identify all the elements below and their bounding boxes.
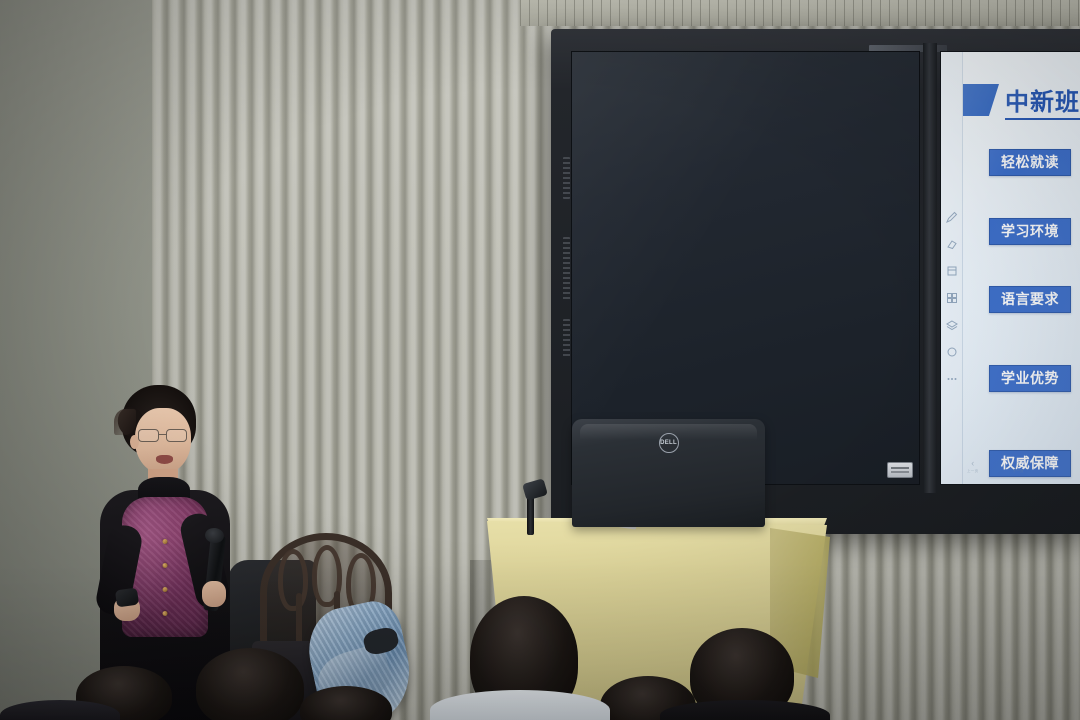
- presenter-right-hand: [202, 581, 226, 607]
- presenter-mouth: [156, 455, 173, 464]
- bezel-label-input-source: [563, 157, 570, 199]
- chair-scrollwork: [278, 549, 308, 611]
- slide-row[interactable]: 轻松就读 1、: [989, 148, 1080, 176]
- lens-right: [166, 429, 187, 442]
- bezel-label-menu-settings: [563, 237, 570, 301]
- next-page-button[interactable]: › 下一页: [1012, 459, 1023, 474]
- slide-title: 中新班优: [1005, 82, 1080, 120]
- slide-row[interactable]: 学业优势 4、: [989, 364, 1080, 392]
- prev-page-button[interactable]: ‹ 上一页: [967, 459, 978, 474]
- slide-chip-label: 学习环境: [989, 218, 1071, 245]
- more-icon[interactable]: [945, 372, 958, 385]
- vest-button: [163, 563, 168, 568]
- gooseneck-microphone-stand: [527, 495, 534, 535]
- next-page-label: 下一页: [1012, 469, 1023, 474]
- glasses-bridge: [159, 434, 166, 435]
- note-icon[interactable]: [945, 264, 958, 277]
- dell-logo: DELL: [659, 433, 679, 453]
- chevron-left-icon: ‹: [971, 459, 974, 468]
- slide-tool-rail[interactable]: [941, 52, 963, 484]
- desktop-monitor[interactable]: DELL: [572, 419, 765, 527]
- presentation-scene: 中新班优 轻松就读 1、 学习环境 2、 语言要求 3、 学业优势 4、: [0, 0, 1080, 720]
- slide-row[interactable]: 语言要求 3、: [989, 285, 1080, 313]
- asset-tag-sticker: [887, 462, 913, 478]
- bezel-label-power: [563, 319, 570, 357]
- presentation-clicker: [115, 588, 139, 608]
- slide-display-panel[interactable]: 中新班优 轻松就读 1、 学习环境 2、 语言要求 3、 学业优势 4、: [940, 51, 1080, 485]
- presenter-hair-wisp: [114, 409, 136, 435]
- lens-left: [138, 429, 159, 442]
- chevron-right-icon: ›: [1017, 459, 1020, 468]
- slide-chip-label: 学业优势: [989, 365, 1071, 392]
- ceiling-trim: [520, 0, 1080, 26]
- prev-page-label: 上一页: [967, 469, 978, 474]
- slide-pager[interactable]: ‹ 上一页 › 下一页: [967, 459, 1024, 474]
- vest-button: [163, 611, 168, 616]
- layers-icon[interactable]: [945, 318, 958, 331]
- display-divider-bezel: [923, 43, 937, 493]
- chair-scrollwork: [346, 553, 376, 615]
- grid-icon[interactable]: [945, 291, 958, 304]
- eraser-icon[interactable]: [945, 237, 958, 250]
- slide-chip-label: 轻松就读: [989, 149, 1071, 176]
- title-wedge-decoration: [963, 84, 999, 116]
- slide-bullet-list: 轻松就读 1、 学习环境 2、 语言要求 3、 学业优势 4、 权威保障 5: [963, 144, 1080, 440]
- vest-button: [163, 539, 168, 544]
- pen-icon[interactable]: [945, 210, 958, 223]
- circle-icon[interactable]: [945, 345, 958, 358]
- slide-title-row: 中新班优: [963, 80, 1080, 120]
- eyeglasses-icon: [138, 429, 190, 443]
- slide-row[interactable]: 学习环境 2、: [989, 217, 1080, 245]
- vest-button: [163, 587, 168, 592]
- audience-head: [196, 648, 304, 720]
- slide-chip-label: 语言要求: [989, 286, 1071, 313]
